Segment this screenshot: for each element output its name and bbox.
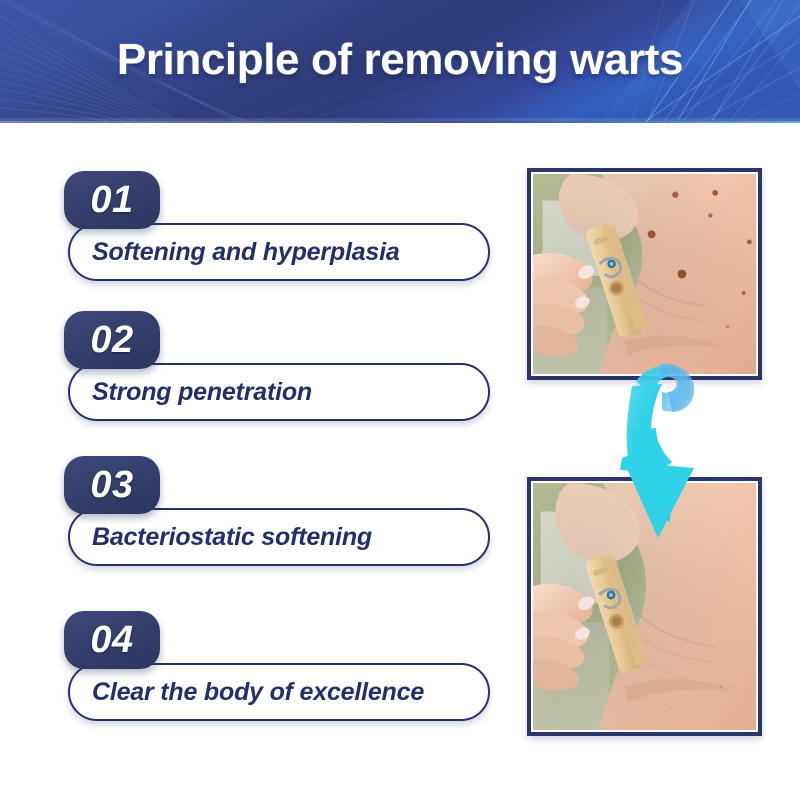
step-item-01[interactable]: Softening and hyperplasia 01: [64, 171, 494, 283]
header-banner: Principle of removing warts: [0, 0, 800, 123]
step-number-04: 04: [64, 611, 160, 669]
step-number-03: 03: [64, 456, 160, 514]
step-label-04: Clear the body of excellence: [64, 665, 490, 719]
after-photo-frame: [527, 477, 762, 736]
page-title: Principle of removing warts: [0, 0, 800, 123]
before-photo: [533, 174, 756, 374]
step-item-03[interactable]: Bacteriostatic softening 03: [64, 456, 494, 568]
step-item-04[interactable]: Clear the body of excellence 04: [64, 611, 494, 723]
after-photo: [533, 483, 756, 730]
step-item-02[interactable]: Strong penetration 02: [64, 311, 494, 423]
after-photo-image: [533, 483, 756, 730]
step-number-01: 01: [64, 171, 160, 229]
step-label-01: Softening and hyperplasia: [64, 225, 490, 279]
step-label-03: Bacteriostatic softening: [64, 510, 490, 564]
steps-list: Softening and hyperplasia 01 Strong pene…: [0, 123, 512, 800]
before-photo-image: [533, 174, 756, 374]
step-label-02: Strong penetration: [64, 365, 490, 419]
poster-root: Principle of removing warts Softening an…: [0, 0, 800, 800]
before-photo-frame: [527, 168, 762, 380]
step-number-02: 02: [64, 311, 160, 369]
